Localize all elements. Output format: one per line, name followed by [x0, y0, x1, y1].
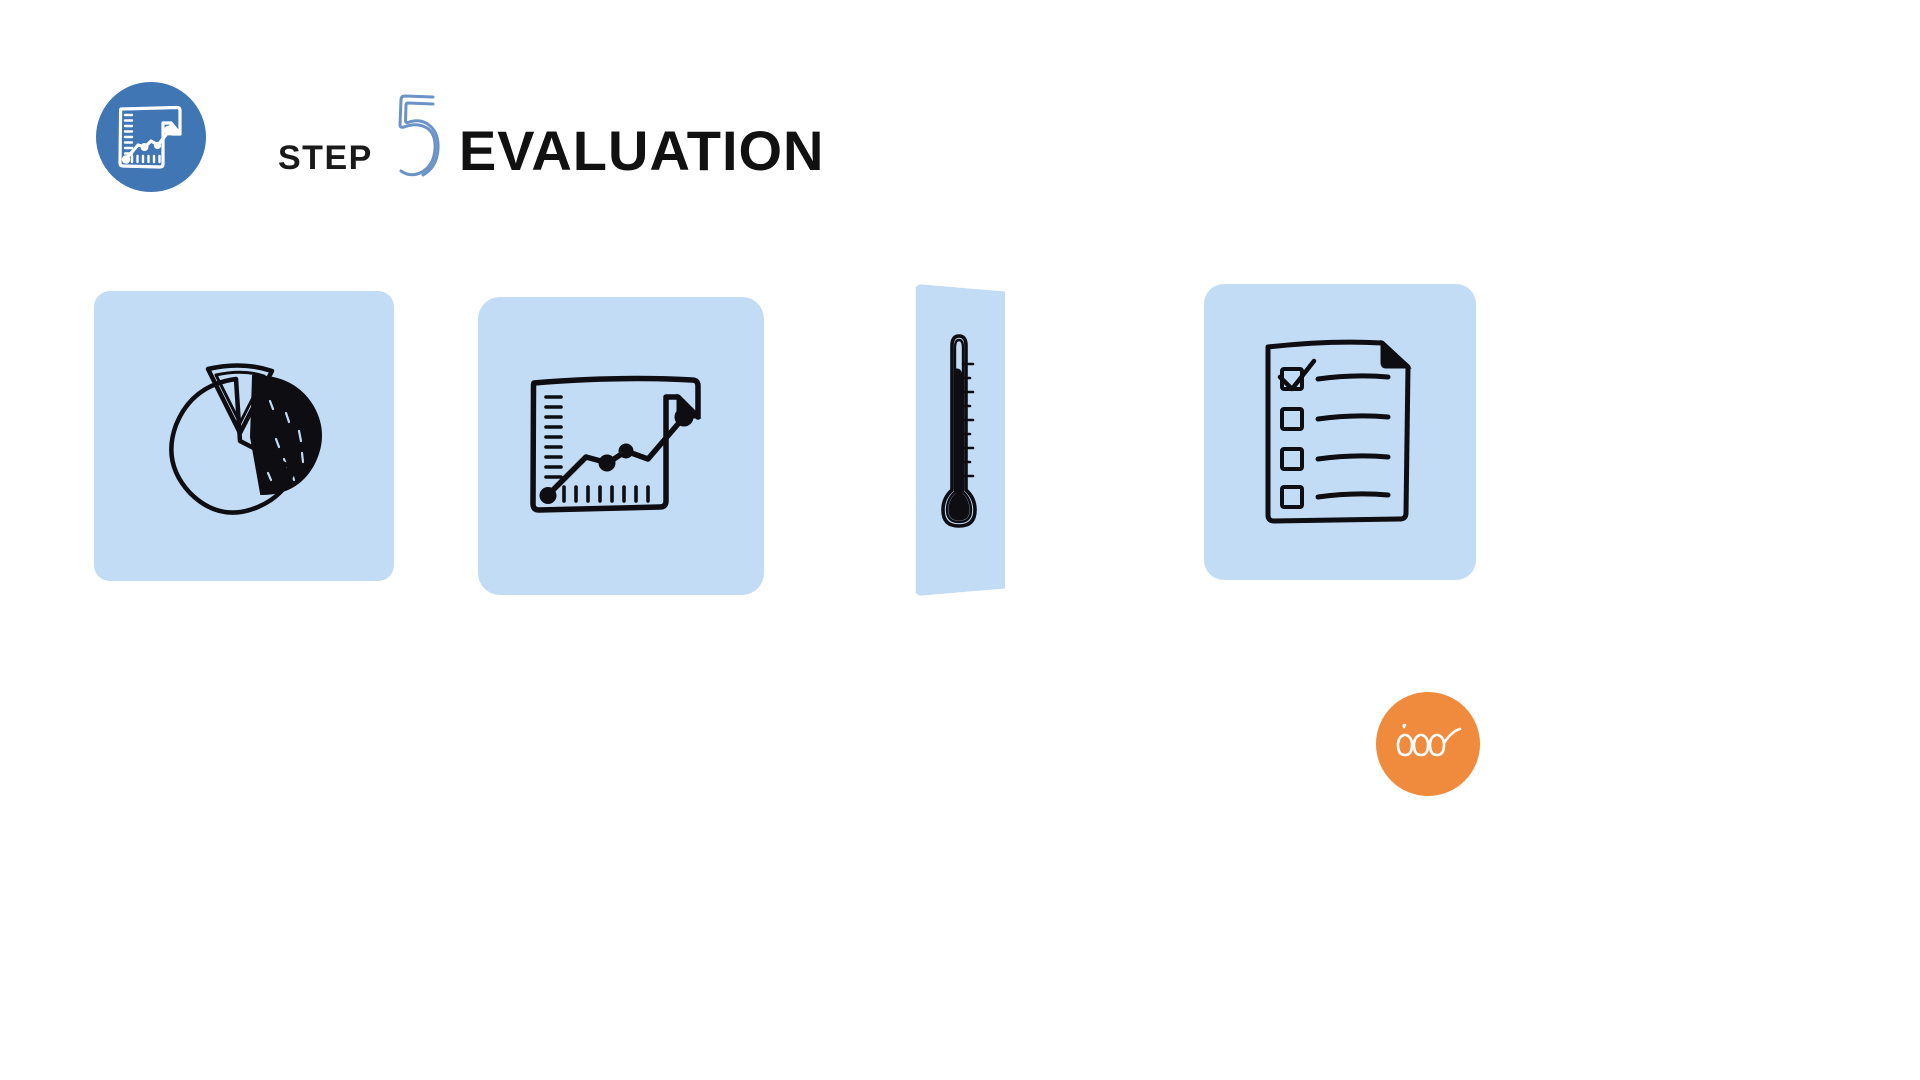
slide-root: STEP EVALUATION [0, 0, 1920, 1080]
pie-chart-icon [144, 341, 344, 531]
thermometer-icon [934, 330, 984, 550]
line-chart-icon [526, 371, 716, 521]
checklist-icon [1260, 337, 1420, 527]
card-row [0, 0, 1920, 1080]
card-line-chart[interactable] [478, 297, 764, 595]
card-checklist[interactable] [1204, 284, 1476, 580]
card-thermometer[interactable] [913, 284, 1005, 596]
brand-logo[interactable] [1376, 692, 1480, 796]
scribble-logo-icon [1392, 717, 1464, 771]
card-pie-chart[interactable] [94, 291, 394, 581]
